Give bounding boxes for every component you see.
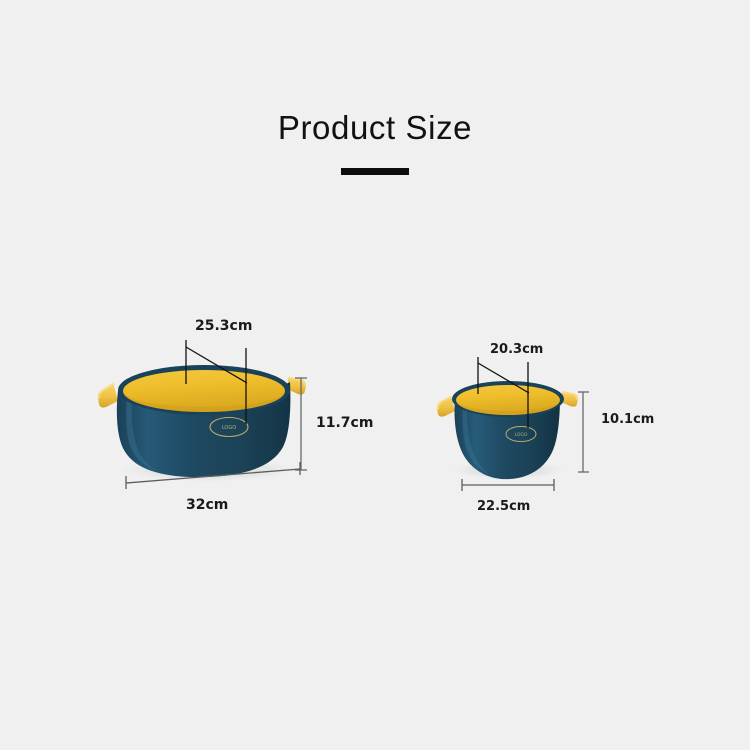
bowls-illustration: LOGO [0, 0, 750, 750]
small-bowl-width-dimension [462, 479, 554, 491]
large-bowl-logo-text: LOGO [222, 425, 236, 431]
large-bowl-width-label: 32cm [186, 497, 228, 513]
small-bowl-height-label: 10.1cm [601, 412, 654, 427]
product-size-infographic: Product Size [0, 0, 750, 750]
large-bowl-inner-diameter-label: 25.3cm [195, 318, 252, 334]
small-bowl-height-dimension [578, 392, 589, 472]
large-bowl-handle-left [98, 383, 118, 408]
large-bowl-height-label: 11.7cm [316, 415, 373, 431]
small-bowl-graphic: LOGO [437, 357, 589, 491]
small-bowl-inner-diameter-label: 20.3cm [490, 342, 543, 357]
small-bowl-width-label: 22.5cm [477, 499, 530, 514]
large-bowl-graphic: LOGO [98, 340, 307, 489]
small-bowl-logo-text: LOGO [515, 432, 528, 438]
